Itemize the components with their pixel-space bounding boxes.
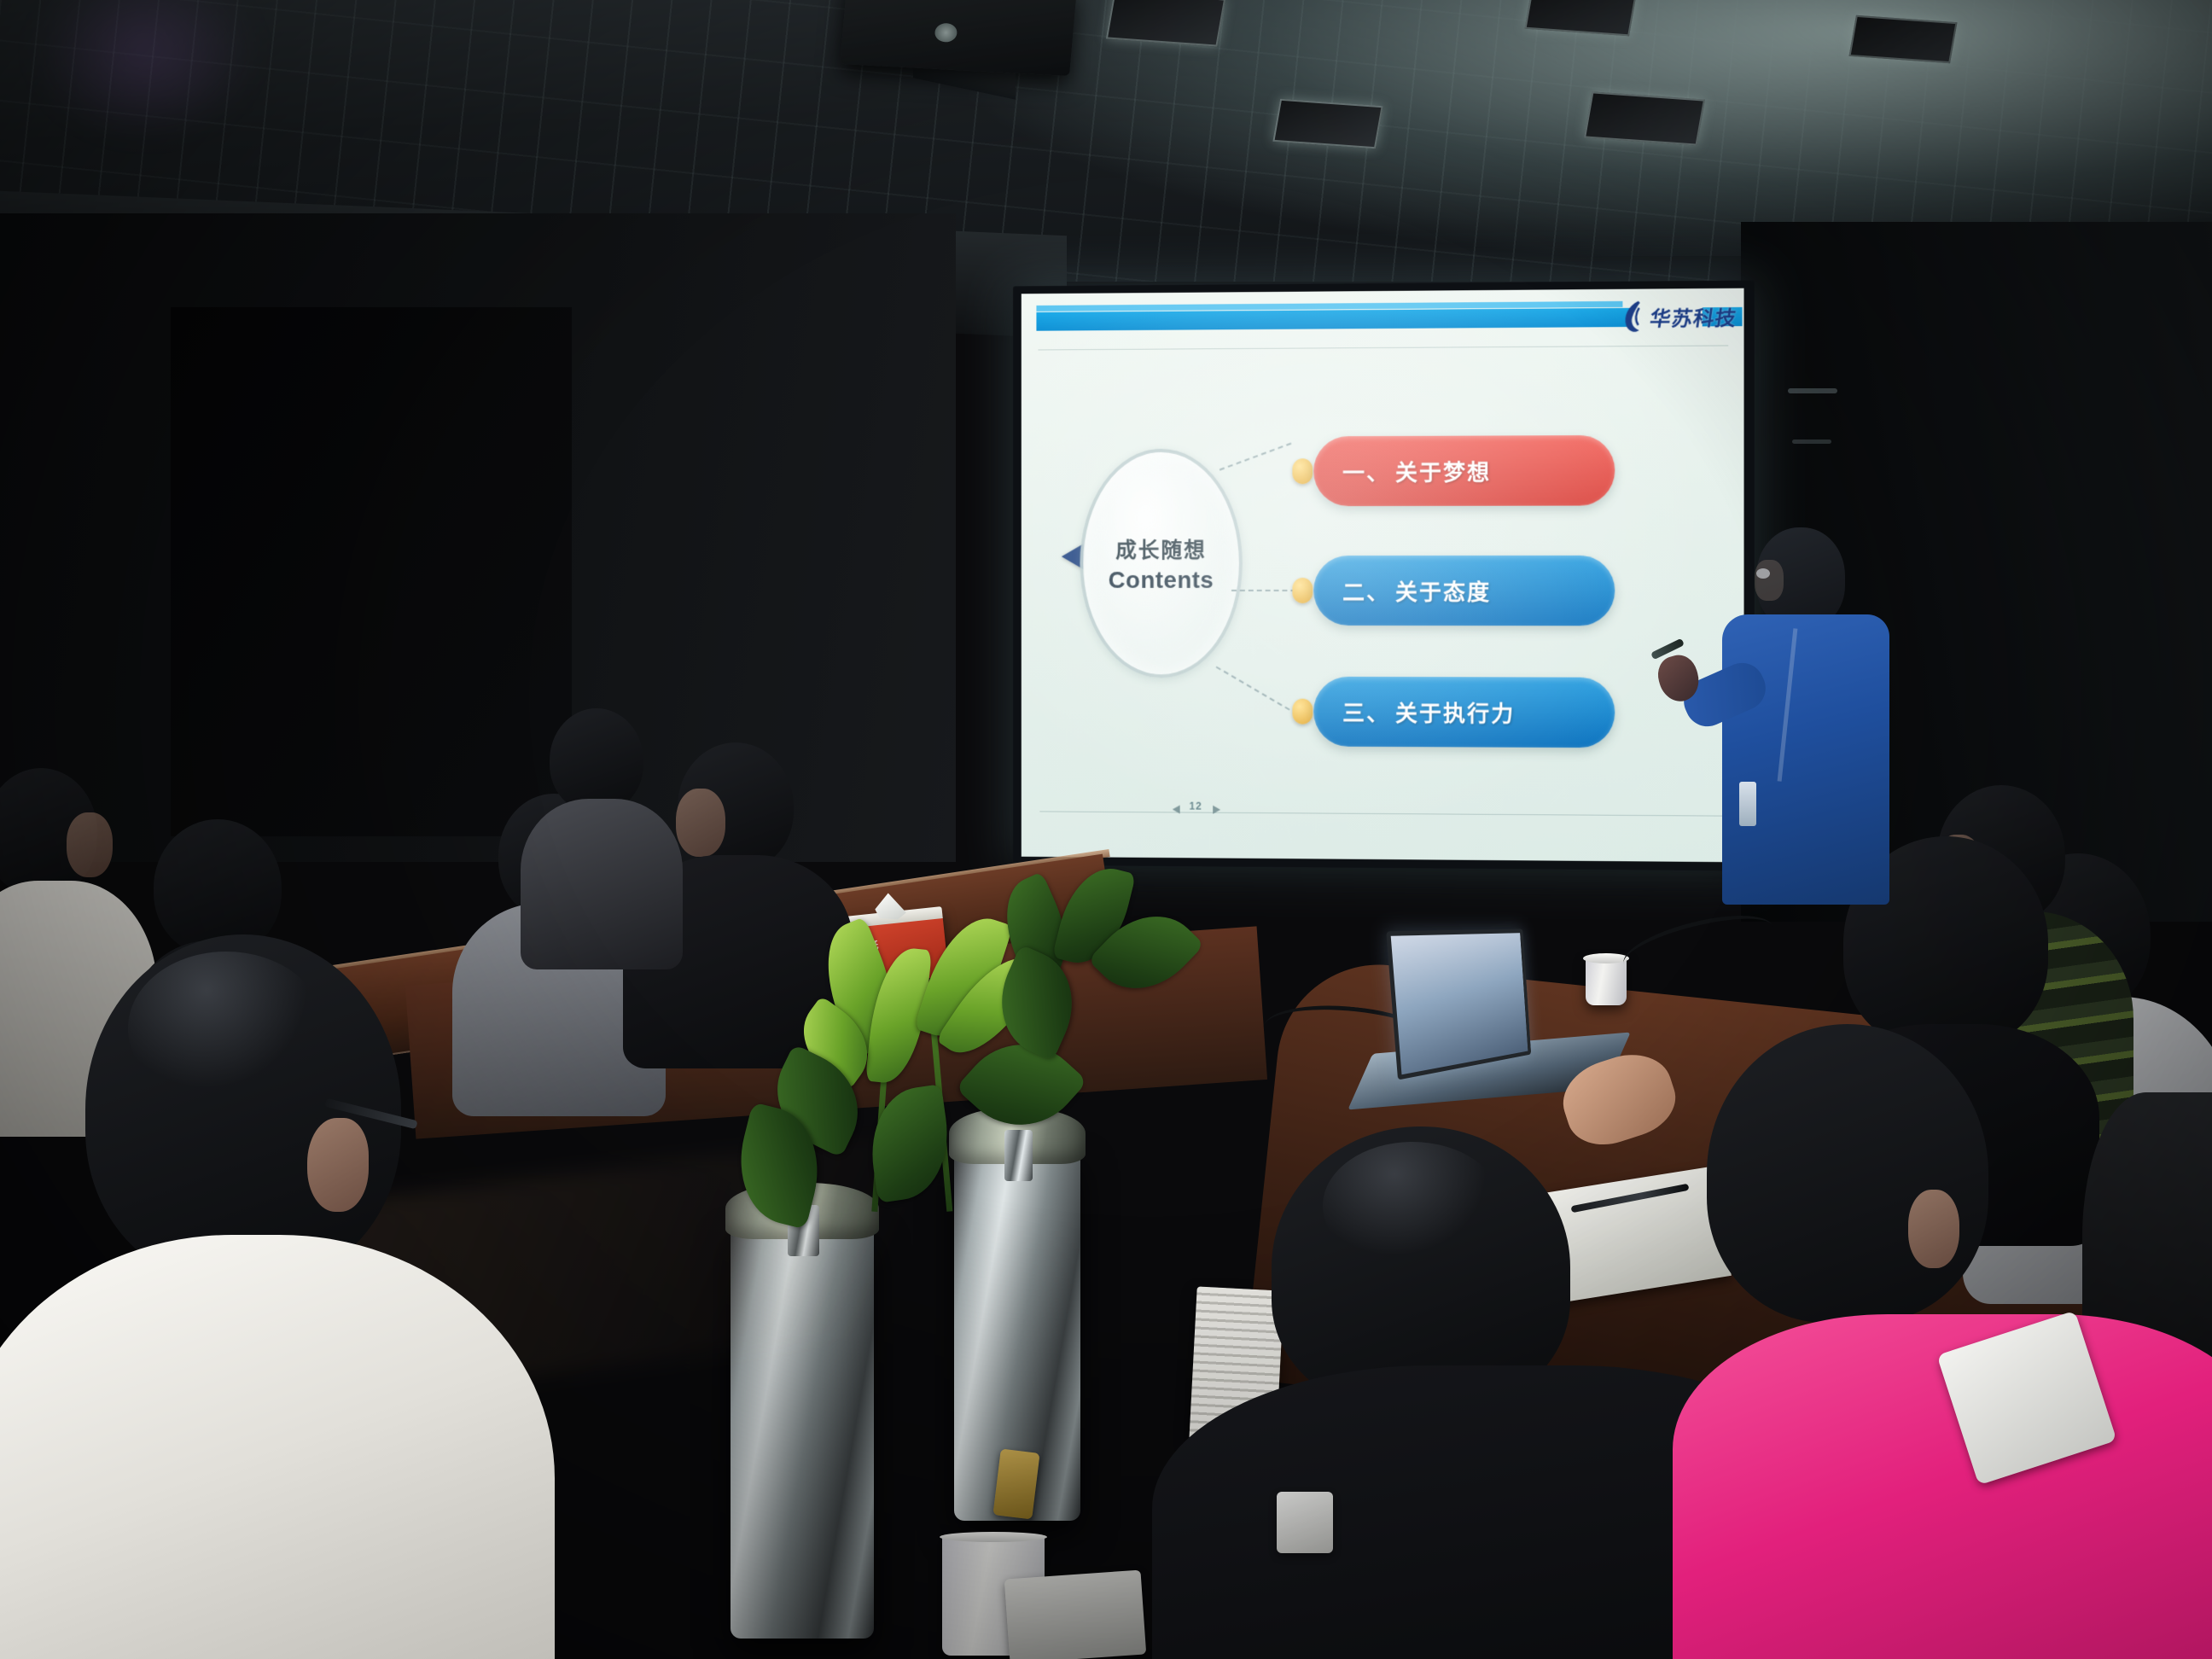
ceiling-projector bbox=[840, 0, 1077, 76]
attendee-right-pink bbox=[1707, 990, 2212, 1659]
contents-center-node: 成长随想 Contents bbox=[1080, 449, 1242, 678]
connector-line-2 bbox=[1231, 590, 1295, 591]
connector-line-3 bbox=[1216, 667, 1290, 711]
plant-leaf-8 bbox=[864, 1084, 957, 1203]
attendee-face bbox=[67, 812, 113, 877]
eyeglasses-icon bbox=[324, 1098, 417, 1129]
shirt-print-icon bbox=[1277, 1492, 1333, 1553]
attendee-far-mid bbox=[512, 708, 683, 930]
thermos-hangtag bbox=[992, 1448, 1039, 1519]
company-logo-text: 华苏科技 bbox=[1648, 300, 1739, 331]
slide-footer-rule bbox=[1039, 811, 1726, 816]
contents-title-cn: 成长随想 bbox=[1115, 533, 1207, 564]
attendee-left-eyewear bbox=[324, 1101, 427, 1161]
agenda-item-1[interactable]: 一、 关于梦想 bbox=[1313, 435, 1615, 506]
slide-header-bar bbox=[1036, 308, 1631, 331]
wall-trim-2 bbox=[1792, 439, 1831, 444]
ceiling-light-4 bbox=[1584, 91, 1705, 145]
company-logo: 华苏科技 bbox=[1621, 295, 1743, 337]
attendee-left-foreground bbox=[26, 934, 555, 1659]
ceiling-light-1 bbox=[1106, 0, 1225, 47]
presenter-shirt bbox=[1722, 614, 1889, 905]
presenter-glasses-glint bbox=[1756, 568, 1770, 579]
agenda-item-3[interactable]: 三、 关于执行力 bbox=[1313, 677, 1615, 748]
ceiling-light-2 bbox=[1272, 99, 1382, 149]
connector-node-3-icon bbox=[1292, 699, 1313, 725]
attendee-head bbox=[550, 708, 643, 812]
agenda-item-1-label: 关于梦想 bbox=[1395, 455, 1491, 486]
attendee-hair-highlight bbox=[128, 952, 324, 1105]
presenter-badge bbox=[1739, 782, 1756, 826]
attendee-hair-highlight bbox=[1323, 1142, 1502, 1270]
laptop-screen bbox=[1386, 928, 1531, 1080]
attendee-ear bbox=[1908, 1190, 1959, 1268]
agenda-item-2-index: 二、 bbox=[1342, 574, 1390, 606]
connector-node-1-icon bbox=[1292, 458, 1313, 484]
connector-line-1 bbox=[1220, 443, 1292, 471]
agenda-item-2[interactable]: 二、 关于态度 bbox=[1313, 556, 1615, 626]
projection-screen-frame: 华苏科技 成长随想 Contents 一、 关于梦想 二、 bbox=[1013, 280, 1755, 870]
attendee-face bbox=[676, 789, 725, 857]
connector-node-2-icon bbox=[1292, 578, 1313, 603]
potted-plant-secondary bbox=[981, 862, 1237, 1118]
page-next-arrow-icon bbox=[1213, 806, 1220, 814]
projection-screen: 华苏科技 成长随想 Contents 一、 关于梦想 二、 bbox=[1022, 288, 1744, 863]
desk-cable-2 bbox=[1618, 904, 1778, 987]
cup-rim bbox=[940, 1532, 1047, 1542]
contents-title-en: Contents bbox=[1109, 567, 1214, 594]
agenda-item-3-label: 关于执行力 bbox=[1395, 696, 1515, 729]
ceiling-light-5 bbox=[1849, 15, 1958, 63]
slide-page-number: 12 bbox=[1190, 800, 1202, 812]
attendee-shirt bbox=[0, 1235, 555, 1659]
agenda-item-1-index: 一、 bbox=[1342, 455, 1390, 486]
page-prev-arrow-icon bbox=[1173, 805, 1180, 813]
presenter-face bbox=[1755, 560, 1784, 601]
agenda-item-2-label: 关于态度 bbox=[1395, 574, 1491, 606]
slide-header-rule bbox=[1038, 345, 1728, 350]
agenda-item-3-index: 三、 bbox=[1342, 696, 1390, 727]
conference-room-scene: 华苏科技 成长随想 Contents 一、 关于梦想 二、 bbox=[0, 0, 2212, 1659]
tablet-device[interactable] bbox=[1004, 1570, 1147, 1659]
huasu-swoosh-logo-icon bbox=[1621, 300, 1646, 334]
attendee-head bbox=[1707, 1024, 1988, 1323]
presenter bbox=[1707, 527, 1903, 903]
wall-trim-1 bbox=[1788, 388, 1837, 393]
